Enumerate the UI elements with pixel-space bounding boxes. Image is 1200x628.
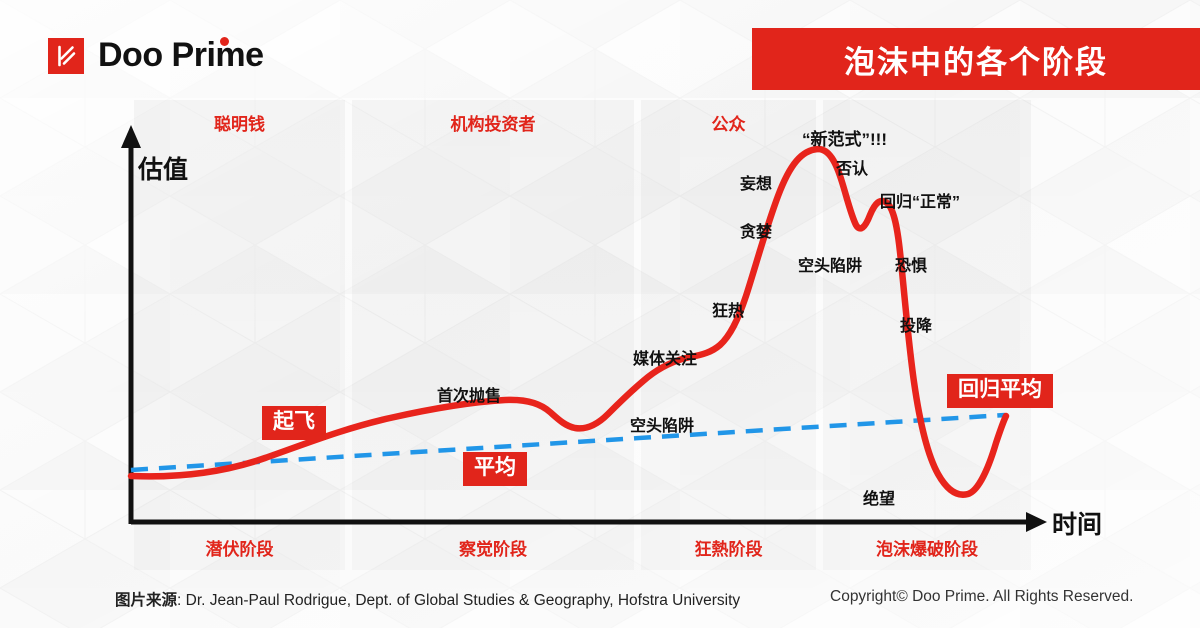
annotation-first-sell-off: 首次抛售 (437, 382, 501, 406)
bubble-stages-chart: 聪明钱 机构投资者 公众 潜伏阶段 察觉阶段 狂熱阶段 泡沫爆破阶段 估 (0, 0, 1200, 628)
valuation-curve (131, 149, 1006, 495)
source-credit: 图片来源: Dr. Jean-Paul Rodrigue, Dept. of G… (115, 588, 740, 610)
annotation-despair: 绝望 (863, 485, 895, 509)
annotation-denial: 否认 (836, 155, 868, 179)
source-prefix: 图片来源 (115, 592, 177, 609)
annotation-enthusiasm: 狂热 (712, 297, 744, 321)
annotation-bear-trap-1: 空头陷阱 (630, 412, 694, 436)
annotation-bull-trap: 空头陷阱 (798, 252, 862, 276)
annotation-delusion: 妄想 (740, 170, 772, 194)
annotation-new-paradigm: “新范式”!!! (802, 125, 887, 150)
chart-plot (0, 0, 1200, 628)
source-text: : Dr. Jean-Paul Rodrigue, Dept. of Globa… (177, 592, 740, 609)
annotation-fear: 恐惧 (895, 252, 927, 276)
x-axis (131, 512, 1047, 532)
tag-mean: 平均 (463, 452, 527, 486)
footer: 图片来源: Dr. Jean-Paul Rodrigue, Dept. of G… (0, 588, 1200, 628)
tag-take-off: 起飞 (262, 406, 326, 440)
annotation-capitulation: 投降 (900, 312, 932, 336)
annotation-return-to-normal: 回归“正常” (880, 188, 960, 212)
y-axis-label: 估值 (138, 150, 188, 186)
x-axis-label: 时间 (1052, 505, 1102, 541)
annotation-media-attention: 媒体关注 (633, 345, 697, 369)
tag-return-to-mean: 回归平均 (947, 374, 1053, 408)
copyright-notice: Copyright© Doo Prime. All Rights Reserve… (830, 588, 1133, 606)
annotation-greed: 贪婪 (740, 218, 772, 242)
poster-root: Doo Prime 泡沫中的各个阶段 聪明钱 机构投资者 公众 潜伏阶段 察觉阶… (0, 0, 1200, 628)
